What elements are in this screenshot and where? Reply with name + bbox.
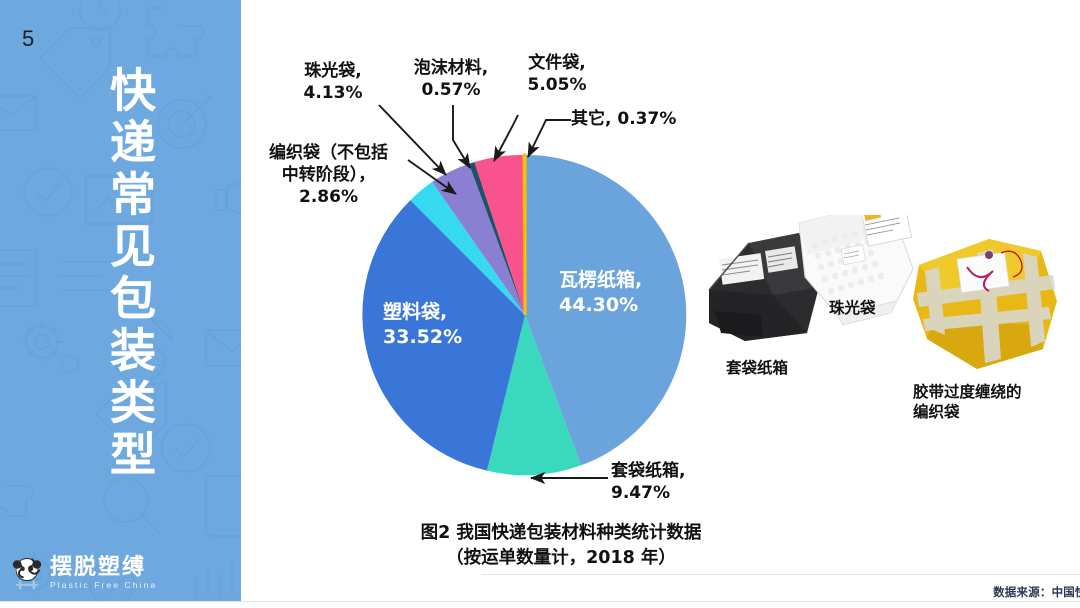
pie-label-document-bag: 文件袋, 5.05% xyxy=(507,52,607,96)
panda-globe-icon xyxy=(10,556,44,590)
pie-label-document-bag-l2: 5.05% xyxy=(507,74,607,96)
content-area: 珠光袋, 4.13% 泡沫材料, 0.57% 文件袋, 5.05% 其它, 0.… xyxy=(241,0,1080,608)
photo-label-pearl-film-bag: 珠光袋 xyxy=(829,298,876,318)
pie-label-bagged-carton-l2: 9.47% xyxy=(611,482,685,504)
pie-label-corrugated-carton: 瓦楞纸箱, 44.30% xyxy=(559,268,642,317)
tape-wrapped-woven-bag-photo xyxy=(913,239,1057,369)
pie-label-document-bag-l1: 文件袋, xyxy=(507,52,607,74)
pie-label-foam-material-l2: 0.57% xyxy=(396,79,506,101)
pie-label-bagged-carton-l1: 套袋纸箱, xyxy=(611,460,685,482)
pie-label-plastic-bag-l2: 33.52% xyxy=(383,325,462,350)
pie-label-pearl-film-bag-l2: 4.13% xyxy=(278,82,388,104)
page-title: 快递常见包装类型 xyxy=(94,66,154,482)
pie-label-others: 其它, 0.37% xyxy=(571,108,676,130)
pie-label-woven-bag-l1: 编织袋（不包括 xyxy=(236,142,421,164)
slide-canvas: 5 快递常见包装类型 摆脱塑缚 Plastic Free China xyxy=(0,0,1080,608)
pie-label-plastic-bag: 塑料袋, 33.52% xyxy=(383,300,462,349)
bottom-divider xyxy=(0,601,1080,608)
pie-label-bagged-carton: 套袋纸箱, 9.47% xyxy=(611,460,685,504)
pie-label-corrugated-carton-l2: 44.30% xyxy=(559,293,642,318)
logo-name-en: Plastic Free China xyxy=(50,580,157,590)
pie-slice-others xyxy=(524,155,525,315)
chart-caption: 图2 我国快递包装材料种类统计数据 （按运单数量计，2018 年） xyxy=(301,521,821,571)
chart-caption-line1: 图2 我国快递包装材料种类统计数据 xyxy=(301,521,821,546)
pie-label-woven-bag: 编织袋（不包括 中转阶段）， 2.86% xyxy=(236,142,421,208)
leader-line-others xyxy=(528,120,571,157)
leader-line-document-bag xyxy=(494,115,518,161)
brand-logo: 摆脱塑缚 Plastic Free China xyxy=(10,556,157,590)
pie-label-woven-bag-l3: 2.86% xyxy=(236,186,421,208)
source-text: 数据来源：中国快递包装废弃物产生特征与管理现状研究报告 xyxy=(993,584,1080,600)
pie-label-pearl-film-bag: 珠光袋, 4.13% xyxy=(278,60,388,104)
pie-label-foam-material: 泡沫材料, 0.57% xyxy=(396,57,506,101)
logo-name-cn: 摆脱塑缚 xyxy=(50,556,157,579)
photo-label-bagged-carton: 套袋纸箱 xyxy=(726,358,788,378)
leader-line-foam-material xyxy=(453,105,470,168)
pie-label-woven-bag-l2: 中转阶段）， xyxy=(236,164,421,186)
pie-label-pearl-film-bag-l1: 珠光袋, xyxy=(278,60,388,82)
page-number: 5 xyxy=(22,28,34,50)
photo-label-woven-bag-l1: 胶带过度缠绕的 xyxy=(913,382,1063,402)
pie-label-plastic-bag-l1: 塑料袋, xyxy=(383,300,462,325)
photo-label-woven-bag-l2: 编织袋 xyxy=(913,402,1063,422)
chart-caption-line2: （按运单数量计，2018 年） xyxy=(301,546,821,571)
photo-label-woven-bag: 胶带过度缠绕的 编织袋 xyxy=(913,382,1063,422)
logo-text-block: 摆脱塑缚 Plastic Free China xyxy=(50,556,157,590)
sidebar-panel: 5 快递常见包装类型 摆脱塑缚 Plastic Free China xyxy=(0,0,241,602)
pie-label-corrugated-carton-l1: 瓦楞纸箱, xyxy=(559,268,642,293)
pie-label-foam-material-l1: 泡沫材料, xyxy=(396,57,506,79)
